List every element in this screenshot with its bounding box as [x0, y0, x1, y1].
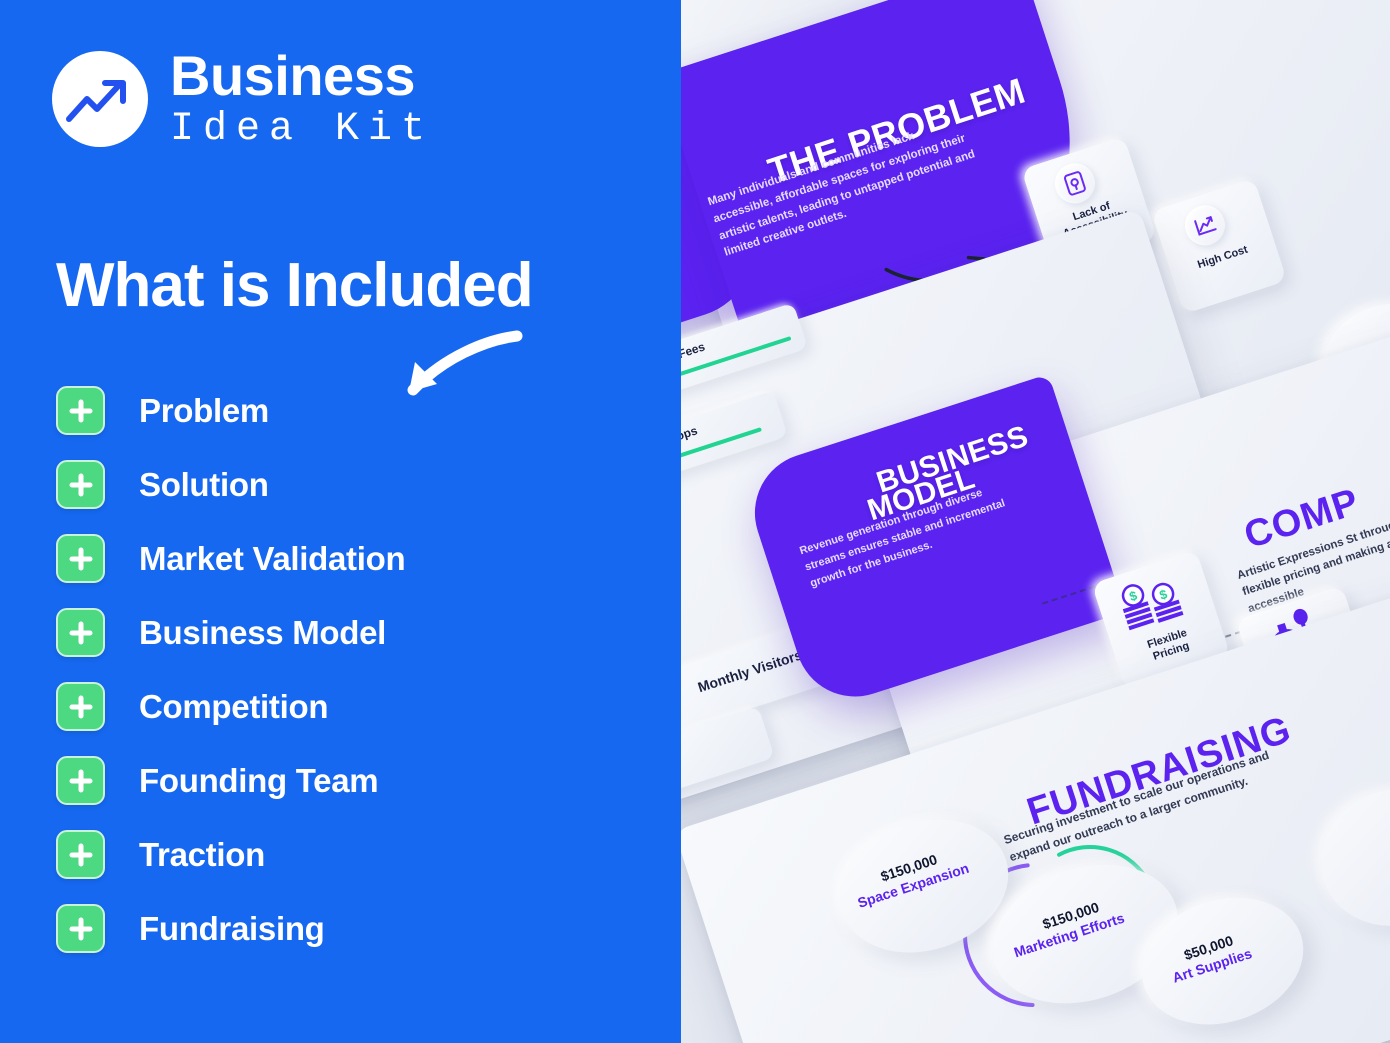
list-item-label: Business Model — [139, 614, 386, 652]
plus-icon — [56, 460, 105, 509]
lock-document-icon — [1050, 158, 1100, 208]
brand-title: Business — [170, 48, 434, 104]
problem-card-label: High Cost — [1173, 236, 1272, 279]
list-item[interactable]: Fundraising — [56, 904, 616, 953]
left-info-panel: Business Idea Kit What is Included Probl… — [0, 0, 681, 1043]
list-item[interactable]: Competition — [56, 682, 616, 731]
growth-chart-circle-icon — [52, 51, 148, 147]
plus-icon — [56, 904, 105, 953]
list-item[interactable]: Traction — [56, 830, 616, 879]
brand-logo: Business Idea Kit — [52, 48, 434, 150]
list-item-label: Competition — [139, 688, 328, 726]
plus-icon — [56, 682, 105, 731]
list-item-label: Problem — [139, 392, 269, 430]
list-item-label: Market Validation — [139, 540, 405, 578]
list-item[interactable]: Market Validation — [56, 534, 616, 583]
brand-subtitle: Idea Kit — [170, 110, 434, 150]
list-item-label: Founding Team — [139, 762, 378, 800]
list-item[interactable]: Problem — [56, 386, 616, 435]
list-item[interactable]: Founding Team — [56, 756, 616, 805]
plus-icon — [56, 386, 105, 435]
plus-icon — [56, 608, 105, 657]
line-chart-icon — [1180, 200, 1230, 250]
plus-icon — [56, 534, 105, 583]
page-title: What is Included — [56, 250, 533, 321]
included-items-list: Problem Solution Market Validation Busin… — [56, 386, 616, 978]
list-item-label: Traction — [139, 836, 265, 874]
list-item-label: Solution — [139, 466, 269, 504]
list-item[interactable]: Business Model — [56, 608, 616, 657]
list-item-label: Fundraising — [139, 910, 325, 948]
plus-icon — [56, 830, 105, 879]
list-item[interactable]: Solution — [56, 460, 616, 509]
plus-icon — [56, 756, 105, 805]
